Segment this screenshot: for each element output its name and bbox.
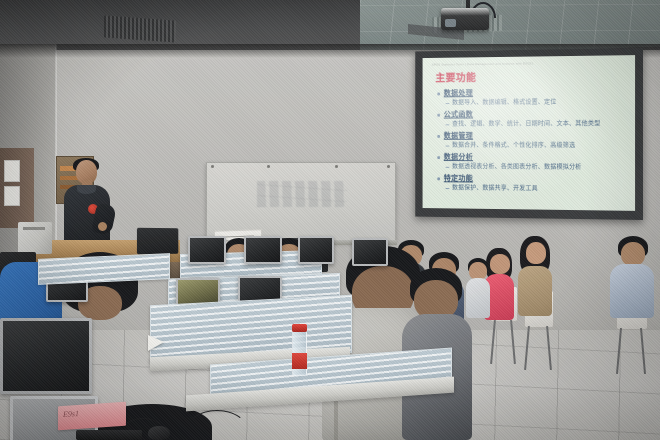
desktop-pc-tower <box>18 222 52 254</box>
classroom-photo: SPSS Statistics Tools | Data Management … <box>0 0 660 440</box>
bottle-label <box>292 353 307 369</box>
seated-attendee-blue-shirt <box>610 236 654 318</box>
foreground-lab-monitor <box>0 318 92 394</box>
slide-section: 特定功能 数据保护、数据共享、开发工具 <box>437 174 629 195</box>
ceiling-vent-icon <box>104 15 176 42</box>
presenter-hand <box>98 222 107 231</box>
slide-title: 主要功能 <box>435 70 476 85</box>
whiteboard-clip <box>387 165 390 168</box>
slide-section-heading: 公式函数 <box>437 109 629 119</box>
lab-monitor <box>188 236 226 264</box>
slide-section-detail: 数据透视表分析、各类图表分析、数据模拟分析 <box>437 162 629 172</box>
whiteboard-clip <box>267 165 270 168</box>
slide-section-detail: 数据保护、数据共享、开发工具 <box>437 183 629 194</box>
presenter-laptop <box>137 228 178 254</box>
slide-section-heading: 数据管理 <box>437 131 629 141</box>
projection-screen-frame: SPSS Statistics Tools | Data Management … <box>415 48 643 220</box>
slide-section: 数据管理 数据合并、条件格式、个性化排序、高级筛选 <box>437 131 629 150</box>
slide-section: 公式函数 查找、逻辑、数学、统计、日期时间、文本、其他类型 <box>437 109 629 129</box>
lab-monitor <box>352 238 388 266</box>
wall-poster-2 <box>4 186 20 206</box>
presenter-collar <box>77 185 96 194</box>
projector-icon <box>441 8 489 30</box>
slide-section-detail: 数据导入、数据编辑、格式设置、定位 <box>437 97 629 107</box>
slide-header-text: SPSS Statistics Tools | Data Management … <box>432 60 627 66</box>
slide-section: 数据处理 数据导入、数据编辑、格式设置、定位 <box>437 87 629 107</box>
lab-monitor <box>298 236 334 264</box>
paper-cone <box>148 335 164 351</box>
projector-lens <box>445 19 456 27</box>
pink-desk-label-text: E9s1 <box>63 409 79 419</box>
whiteboard-erased-writing <box>257 181 347 207</box>
pink-desk-label: E9s1 <box>58 402 126 431</box>
whiteboard-clip <box>335 165 338 168</box>
seated-attendee-khaki <box>518 236 552 314</box>
slide-section: 数据分析 数据透视表分析、各类图表分析、数据模拟分析 <box>437 152 629 172</box>
slide-body: 数据处理 数据导入、数据编辑、格式设置、定位 公式函数 查找、逻辑、数学、统计、… <box>437 87 629 197</box>
wall-poster-1 <box>4 160 20 182</box>
water-bottle <box>292 330 307 376</box>
bottle-cap <box>292 324 307 332</box>
slide-section-detail: 查找、逻辑、数学、统计、日期时间、文本、其他类型 <box>437 119 629 129</box>
whiteboard-clip <box>211 165 214 168</box>
lab-monitor <box>244 236 282 264</box>
slide-section-detail: 数据合并、条件格式、个性化排序、高级筛选 <box>437 141 629 151</box>
projection-screen: SPSS Statistics Tools | Data Management … <box>423 55 635 211</box>
